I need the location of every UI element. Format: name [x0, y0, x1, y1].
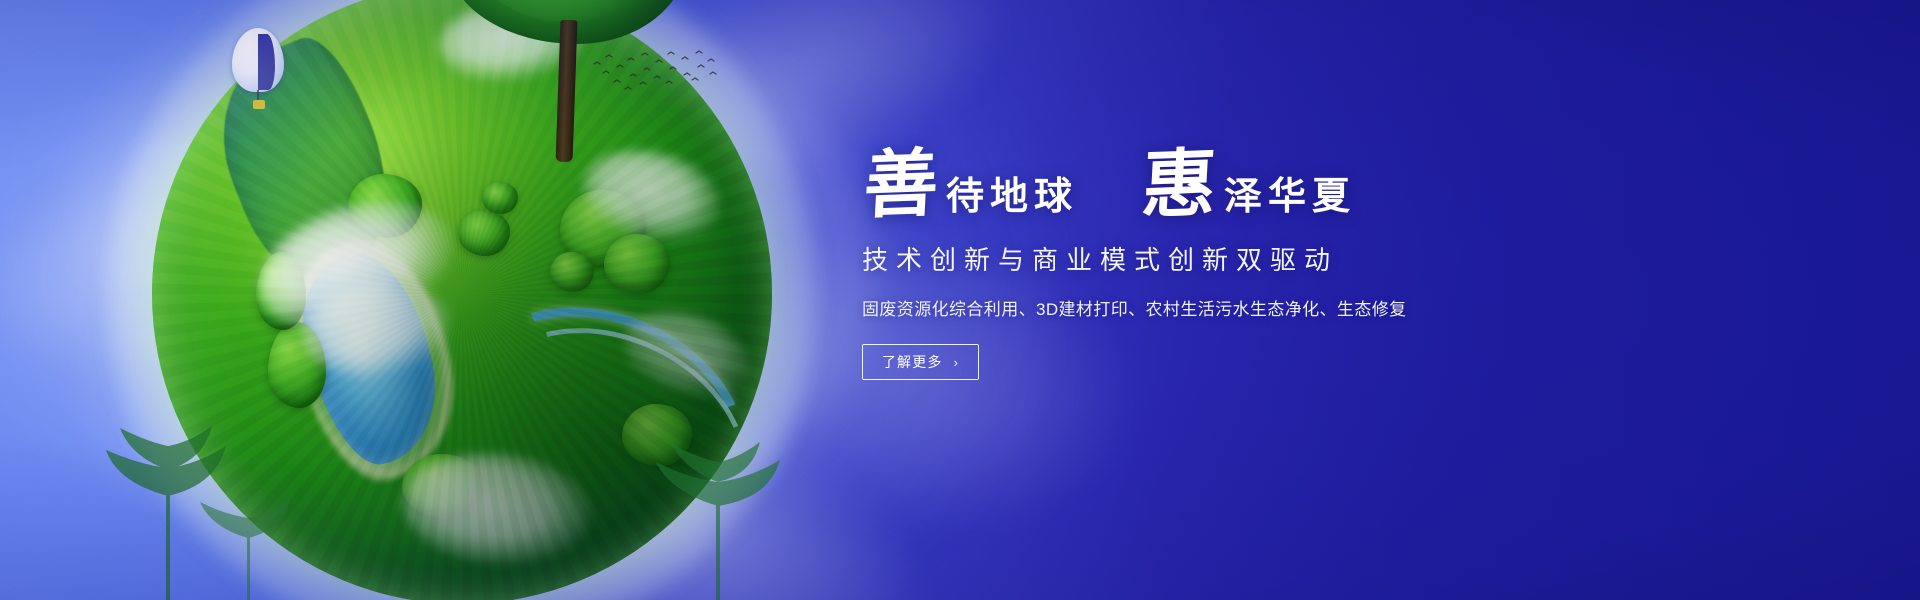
headline-phrase-1: 善 待地球 — [862, 151, 1078, 222]
headline-small-text-2: 泽华夏 — [1224, 177, 1356, 222]
learn-more-button[interactable]: 了解更多 › — [862, 344, 979, 380]
banner-subtitle: 技术创新与商业模式创新双驱动 — [862, 240, 1662, 277]
banner-copy: 善 待地球 惠 泽华夏 技术创新与商业模式创新双驱动 固废资源化综合利用、3D建… — [862, 118, 1662, 380]
chevron-right-icon: › — [954, 356, 960, 369]
headline-small-text-1: 待地球 — [946, 177, 1078, 222]
hero-banner: 善 待地球 惠 泽华夏 技术创新与商业模式创新双驱动 固废资源化综合利用、3D建… — [0, 0, 1920, 600]
headline-phrase-2: 惠 泽华夏 — [1140, 151, 1356, 222]
banner-description: 固废资源化综合利用、3D建材打印、农村生活污水生态净化、生态修复 — [862, 295, 1662, 320]
headline: 善 待地球 惠 泽华夏 — [862, 118, 1662, 222]
learn-more-label: 了解更多 — [882, 352, 943, 372]
headline-big-char-1: 善 — [862, 148, 946, 222]
headline-big-char-2: 惠 — [1140, 148, 1224, 222]
